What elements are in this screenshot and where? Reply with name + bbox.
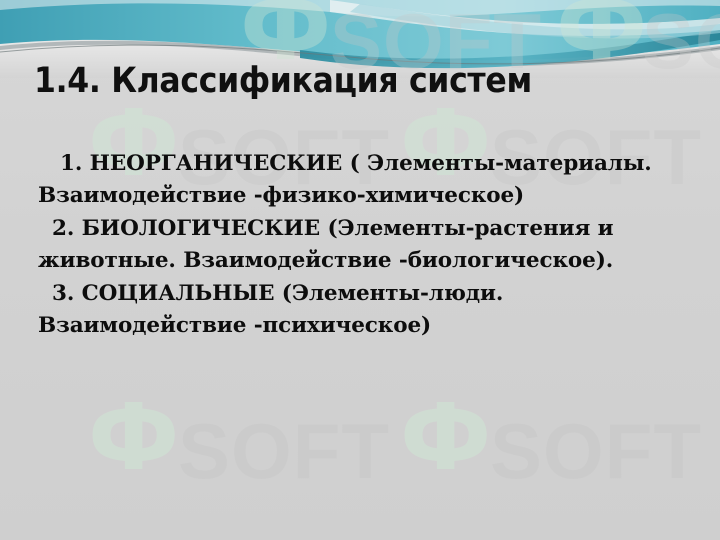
list-item: 1. НЕОРГАНИЧЕСКИЕ ( Элементы-материалы. … [38,148,686,212]
watermark-glyph: Ф [400,392,489,484]
presentation-slide: Ф Ф Ф Ф Ф Ф SOFT SOFT SOFT SOFT SOFT SOF… [0,0,720,540]
page-title: 1.4. Классификация систем [34,61,694,101]
watermark-soft-text: SOFT [178,412,390,490]
list-item: 2. БИОЛОГИЧЕСКИЕ (Элементы-растения и жи… [38,213,686,277]
list-item-number: 1. [60,151,82,176]
slide-body: 1. НЕОРГАНИЧЕСКИЕ ( Элементы-материалы. … [38,148,686,343]
list-item-lead: БИОЛОГИЧЕСКИЕ [74,216,327,241]
list-item-lead: СОЦИАЛЬНЫЕ [74,281,282,306]
watermark-soft-text: SOFT [490,412,702,490]
list-item-number: 2. [52,216,74,241]
list-item: 3. СОЦИАЛЬНЫЕ (Элементы-люди. Взаимодейс… [38,278,686,342]
watermark-glyph: Ф [88,392,177,484]
list-item-lead: НЕОРГАНИЧЕСКИЕ [82,151,349,176]
list-item-number: 3. [52,281,74,306]
